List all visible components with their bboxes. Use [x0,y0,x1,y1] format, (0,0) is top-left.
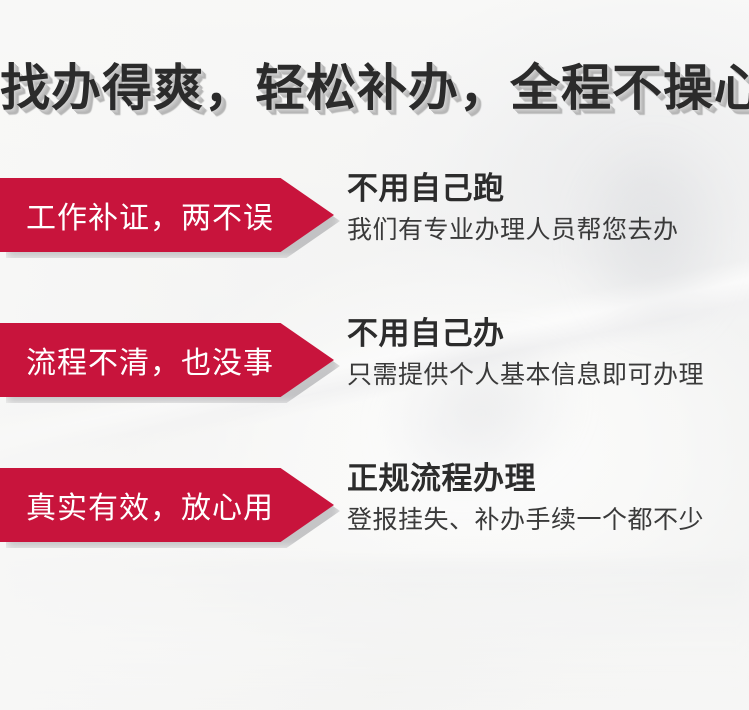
feature-banner-3: 真实有效，放心用 [0,468,334,542]
banner-label: 流程不清，也没事 [0,338,274,382]
feature-title: 不用自己办 [347,315,704,353]
promo-poster: 找办得爽，轻松补办，全程不操心！ 工作补证，两不误 流程不清，也没事 [0,0,749,710]
feature-subtitle: 登报挂失、补办手续一个都不少 [347,504,704,536]
feature-banner-1: 工作补证，两不误 [0,178,334,252]
arrow-banner-shape: 流程不清，也没事 [0,323,334,397]
feature-title: 不用自己跑 [347,170,679,208]
arrow-banner-shape: 工作补证，两不误 [0,178,334,252]
arrow-banner-shape: 真实有效，放心用 [0,468,334,542]
feature-banner-2: 流程不清，也没事 [0,323,334,397]
feature-subtitle: 只需提供个人基本信息即可办理 [347,359,704,391]
feature-subtitle: 我们有专业办理人员帮您去办 [347,214,679,246]
feature-title: 正规流程办理 [347,460,704,498]
banner-label: 真实有效，放心用 [0,483,274,527]
banner-label: 工作补证，两不误 [0,193,274,237]
feature-copy-2: 不用自己办 只需提供个人基本信息即可办理 [347,315,704,391]
feature-copy-3: 正规流程办理 登报挂失、补办手续一个都不少 [347,460,704,536]
feature-copy-1: 不用自己跑 我们有专业办理人员帮您去办 [347,170,679,246]
